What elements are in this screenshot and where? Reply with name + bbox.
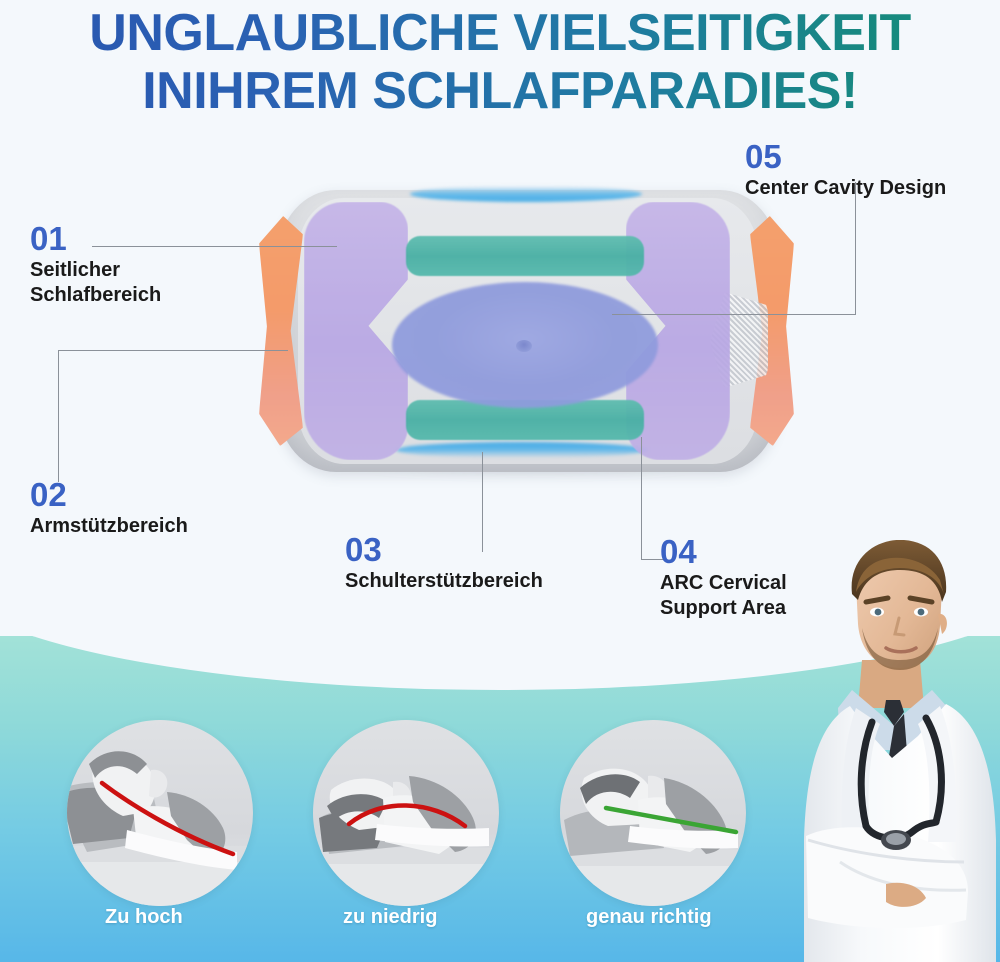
shoulder-support-zone-top — [406, 236, 644, 276]
callout-03: 03 Schulterstützbereich — [345, 533, 543, 594]
callout-04-label: ARC Cervical Support Area — [660, 571, 787, 621]
callout-05-label: Center Cavity Design — [745, 176, 946, 201]
callout-01: 01 Seitlicher Schlafbereich — [30, 222, 161, 308]
callout-01-label: Seitlicher Schlafbereich — [30, 258, 161, 308]
comparison-circle-too-low — [313, 720, 499, 906]
infographic-page: UNGLAUBLICHE VIELSEITIGKEIT INIHREM SCHL… — [0, 0, 1000, 962]
callout-03-number: 03 — [345, 533, 543, 567]
callout-01-number: 01 — [30, 222, 161, 256]
callout-04-number: 04 — [660, 535, 787, 569]
callout-02: 02 Armstützbereich — [30, 478, 188, 539]
callout-04: 04 ARC Cervical Support Area — [660, 535, 787, 621]
callout-05: 05 Center Cavity Design — [745, 140, 946, 201]
sleep-posture-illustration-correct — [560, 720, 746, 906]
callout-05-number: 05 — [745, 140, 946, 174]
doctor-illustration — [800, 540, 1000, 962]
leader-line-02-horizontal — [58, 350, 288, 351]
leader-line-04-vertical — [641, 437, 642, 559]
doctor-photo — [800, 540, 1000, 962]
callout-02-number: 02 — [30, 478, 188, 512]
sleep-posture-illustration-too-low — [313, 720, 499, 906]
page-title: UNGLAUBLICHE VIELSEITIGKEIT INIHREM SCHL… — [0, 4, 1000, 120]
pillow-edge-trim-top — [410, 186, 642, 202]
headline-line-2: INIHREM SCHLAFPARADIES! — [0, 62, 1000, 120]
comparison-circle-too-high — [67, 720, 253, 906]
pillow-illustration — [250, 172, 810, 512]
center-cavity-dimple — [516, 340, 532, 352]
callout-02-label: Armstützbereich — [30, 514, 188, 539]
caption-correct: genau richtig — [586, 906, 712, 929]
leader-line-05-vertical — [855, 182, 856, 315]
leader-line-05-horizontal — [612, 314, 856, 315]
pillow-edge-trim-bottom — [396, 442, 648, 458]
sleep-posture-illustration-too-high — [67, 720, 253, 906]
callout-03-label: Schulterstützbereich — [345, 569, 543, 594]
leader-line-02-vertical — [58, 350, 59, 482]
comparison-circle-correct — [560, 720, 746, 906]
caption-too-low: zu niedrig — [343, 906, 437, 929]
headline-line-1: UNGLAUBLICHE VIELSEITIGKEIT — [0, 4, 1000, 62]
caption-too-high: Zu hoch — [105, 906, 183, 929]
